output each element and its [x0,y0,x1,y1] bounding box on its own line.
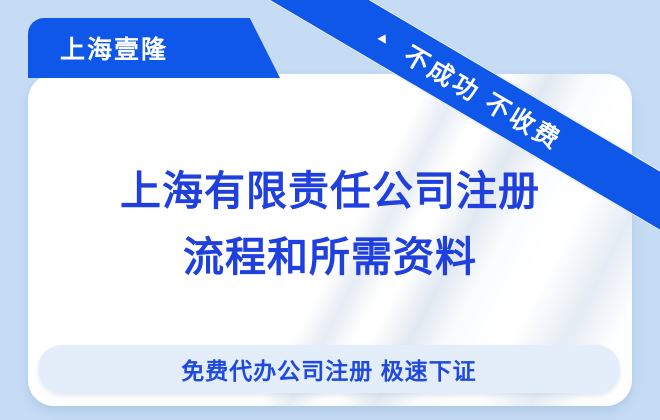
promo-poster: 上海有限责任公司注册 流程和所需资料 免费代办公司注册 极速下证 上海壹隆 不成… [0,0,660,420]
promo-pill-banner[interactable]: 免费代办公司注册 极速下证 [38,345,620,393]
promo-pill-label: 免费代办公司注册 极速下证 [181,352,476,386]
brand-tab-label: 上海壹隆 [60,30,168,66]
brand-tab[interactable]: 上海壹隆 [28,18,280,78]
page-title-line-1: 上海有限责任公司注册 [28,158,632,224]
page-title-line-2: 流程和所需资料 [28,224,632,290]
page-title: 上海有限责任公司注册 流程和所需资料 [28,158,632,290]
triangle-up-icon [377,32,390,44]
